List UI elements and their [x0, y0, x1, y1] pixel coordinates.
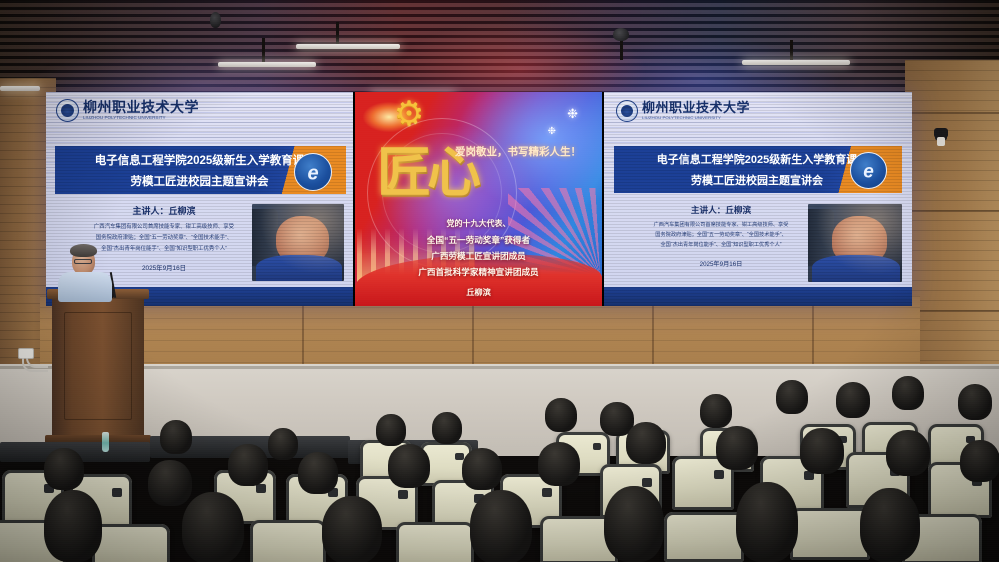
speaker-credential-2: 国务院政府津贴；全国“五一劳动奖章”、“全国技术能手”、: [60, 233, 268, 241]
audience-head: [268, 428, 298, 460]
seat: [92, 524, 170, 562]
water-bottle: [102, 432, 109, 452]
university-name-en: LIUZHOU POLYTECHNIC UNIVERSITY: [642, 117, 750, 121]
center-sub-1: 党的十九大代表、: [355, 218, 602, 229]
presenter: [56, 244, 116, 300]
wooden-podium: [52, 296, 144, 438]
department-badge-icon: e: [294, 153, 332, 191]
center-artwork: ⚙ 匠心 爱岗敬业，书写精彩人生！ ❉ ❉ 党的十九大代表、 全国“五一劳动奖章…: [355, 92, 602, 306]
audience-head: [716, 426, 758, 470]
audience-head: [736, 482, 798, 562]
seat: [250, 520, 326, 562]
audience-head: [538, 442, 580, 486]
audience-head: [182, 492, 244, 562]
center-sub-3: 广西劳模工匠宣讲团成员: [355, 250, 602, 262]
jiangxin-characters: 匠心: [377, 128, 477, 207]
audience-head: [298, 452, 338, 494]
center-slogan: 爱岗敬业，书写精彩人生！: [455, 144, 581, 159]
screen-reflection-glow: [0, 0, 999, 100]
seat: [396, 522, 474, 562]
speaker-credential-2: 国务院政府津贴；全国“五一劳动奖章”、“全国技术能手”、: [618, 231, 824, 238]
audience-head: [776, 380, 808, 414]
audience-head: [388, 444, 430, 488]
audience-head: [860, 488, 920, 562]
audience-head: [958, 384, 992, 420]
dome-camera-icon: [210, 12, 221, 28]
track-light: [0, 86, 40, 91]
university-name-cn: 柳州职业技术大学: [83, 100, 199, 114]
seat: [790, 508, 870, 560]
audience-head: [892, 376, 924, 410]
audience-head: [836, 382, 870, 418]
audience-head: [604, 486, 664, 562]
center-sub-name: 丘柳滨: [355, 286, 602, 298]
right-slide: 柳州职业技术大学 LIUZHOU POLYTECHNIC UNIVERSITY …: [604, 92, 912, 306]
right-screen-panel: 柳州职业技术大学 LIUZHOU POLYTECHNIC UNIVERSITY …: [604, 92, 912, 306]
center-screen-panel: ⚙ 匠心 爱岗敬业，书写精彩人生！ ❉ ❉ 党的十九大代表、 全国“五一劳动奖章…: [355, 92, 602, 306]
track-light: [218, 62, 316, 67]
speaker-credential-3: 全国“杰出青年岗位能手”、全国“知识型职工优秀个人”: [618, 241, 824, 248]
speaker-info-block: 主讲人：丘柳滨 广西汽车集团有限公司首席技能专家、钳工高级技师、享受 国务院政府…: [618, 204, 824, 268]
center-sub-2: 全国“五一劳动奖章”获得者: [355, 234, 602, 246]
light-stem: [262, 38, 265, 64]
audience-head: [228, 444, 268, 486]
led-video-wall: 柳州职业技术大学 LIUZHOU POLYTECHNIC UNIVERSITY …: [46, 92, 912, 306]
university-crest-icon: [616, 100, 638, 122]
university-name-cn: 柳州职业技术大学: [642, 101, 750, 114]
audience-head: [470, 490, 532, 562]
seat: [664, 512, 744, 562]
speaker-credential-1: 广西汽车集团有限公司首席技能专家、钳工高级技师、享受: [60, 222, 268, 230]
lecture-hall-photo: 柳州职业技术大学 LIUZHOU POLYTECHNIC UNIVERSITY …: [0, 0, 999, 562]
dove-icon: ❉: [567, 106, 578, 122]
department-badge-icon: e: [850, 152, 887, 189]
university-logo: 柳州职业技术大学 LIUZHOU POLYTECHNIC UNIVERSITY: [56, 99, 199, 122]
slide-title-line1: 电子信息工程学院2025级新生入学教育课: [657, 151, 857, 167]
track-light: [742, 60, 850, 65]
wood-wall-below-screen: [40, 296, 920, 368]
audience-head: [626, 422, 666, 464]
university-name-en: LIUZHOU POLYTECHNIC UNIVERSITY: [83, 116, 199, 120]
audience-head: [44, 448, 84, 490]
dove-icon: ❉: [548, 126, 556, 137]
dome-camera-icon: [613, 28, 629, 41]
stage-edge: [0, 366, 999, 369]
audience-head: [700, 394, 732, 428]
audience-head: [462, 448, 502, 490]
audience-head: [960, 440, 999, 482]
speaker-credential-1: 广西汽车集团有限公司首席技能专家、钳工高级技师、享受: [618, 221, 824, 228]
university-crest-icon: [56, 99, 79, 122]
track-light: [296, 44, 400, 49]
speaker-name: 主讲人：丘柳滨: [618, 204, 824, 216]
audience-head: [44, 490, 102, 562]
wall-camera-icon: [934, 128, 948, 138]
audience-head: [886, 430, 930, 476]
slide-title-line2: 劳模工匠进校园主题宣讲会: [691, 172, 823, 188]
slide-date: 2025年9月16日: [618, 259, 824, 268]
audience-head: [432, 412, 462, 444]
audience-head: [800, 428, 844, 474]
speaker-photo: [252, 204, 344, 281]
slide-footer-bar: [604, 287, 912, 306]
slide-title-line2: 劳模工匠进校园主题宣讲会: [131, 173, 269, 189]
speaker-photo: [808, 204, 902, 282]
speaker-name: 主讲人：丘柳滨: [60, 204, 268, 217]
center-sub-4: 广西首批科学家精神宣讲团成员: [355, 266, 602, 278]
audience-head: [148, 460, 192, 506]
slide-title-line1: 电子信息工程学院2025级新生入学教育课: [95, 152, 305, 168]
audience-head: [160, 420, 192, 454]
audience-head: [322, 496, 382, 562]
university-logo: 柳州职业技术大学 LIUZHOU POLYTECHNIC UNIVERSITY: [616, 100, 750, 122]
audience-head: [376, 414, 406, 446]
audience-head: [545, 398, 577, 432]
light-stem: [336, 22, 339, 44]
